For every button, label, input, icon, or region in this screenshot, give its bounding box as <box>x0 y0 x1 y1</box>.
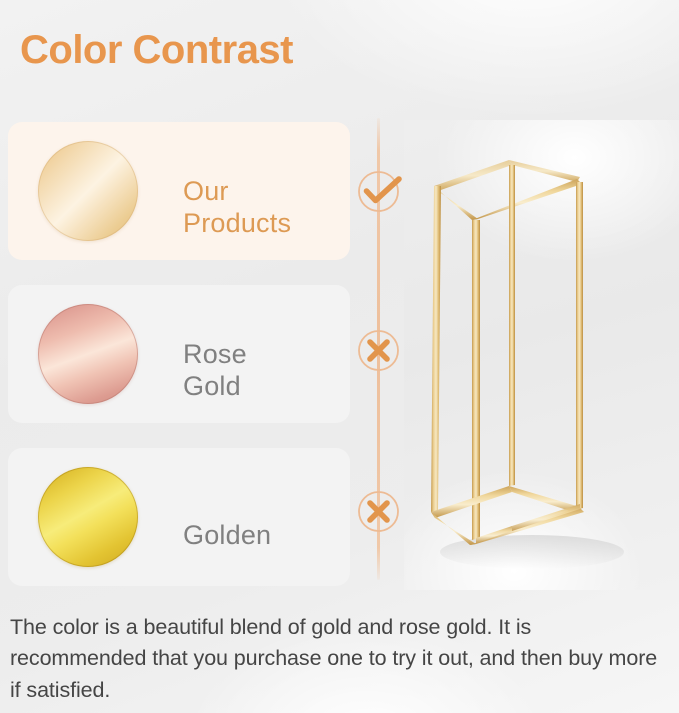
cross-circle-icon <box>355 488 402 535</box>
card-label-line-2: Gold <box>183 371 343 403</box>
comparison-card-rose-gold: Rose Gold <box>8 285 350 423</box>
golden-swatch <box>38 467 138 567</box>
color-contrast-infographic: Color Contrast Our Products Rose Gold Go… <box>0 0 679 713</box>
card-label-line-2: Products <box>183 208 343 240</box>
comparison-card-label: Our Products <box>183 176 343 240</box>
comparison-card-golden: Golden <box>8 448 350 586</box>
check-circle-icon <box>355 168 402 215</box>
card-label-line-1: Rose <box>183 339 343 371</box>
card-label-line-1: Golden <box>183 520 343 552</box>
comparison-card-our-products: Our Products <box>8 122 350 260</box>
gold-frame-stand-illustration <box>404 120 679 590</box>
comparison-card-label: Rose Gold <box>183 339 343 403</box>
comparison-card-label: Golden <box>183 520 343 552</box>
product-image-gold-frame-stand <box>404 120 679 590</box>
page-title: Color Contrast <box>20 28 293 73</box>
cross-circle-icon <box>355 327 402 374</box>
product-description: The color is a beautiful blend of gold a… <box>10 612 660 706</box>
rose-gold-swatch <box>38 304 138 404</box>
champagne-gold-swatch <box>38 141 138 241</box>
card-label-line-1: Our <box>183 176 343 208</box>
